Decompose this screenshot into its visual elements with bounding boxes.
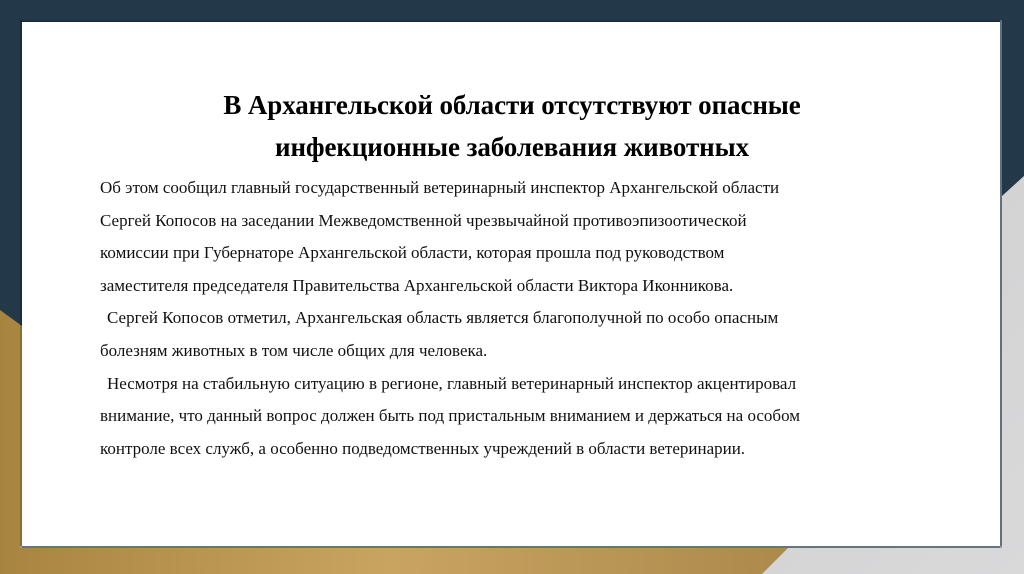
slide-title: В Архангельской области отсутствуют опас… bbox=[82, 84, 942, 168]
frame-bevel-right bbox=[1000, 20, 1002, 548]
slide-body-text: Об этом сообщил главный государственный … bbox=[100, 172, 930, 465]
frame-bevel-bottom bbox=[20, 546, 1002, 548]
body-line-6: болезням животных в том числе общих для … bbox=[100, 335, 930, 368]
body-line-4: заместителя председателя Правительства А… bbox=[100, 270, 930, 303]
body-line-8: внимание, что данный вопрос должен быть … bbox=[100, 400, 930, 433]
body-line-3: комиссии при Губернаторе Архангельской о… bbox=[100, 237, 930, 270]
slide-title-line-1: В Архангельской области отсутствуют опас… bbox=[82, 84, 942, 126]
presentation-slide: В Архангельской области отсутствуют опас… bbox=[0, 0, 1024, 574]
body-line-5: Сергей Копосов отметил, Архангельская об… bbox=[100, 302, 930, 335]
slide-content-area: В Архангельской области отсутствуют опас… bbox=[22, 22, 1000, 546]
body-line-2: Сергей Копосов на заседании Межведомстве… bbox=[100, 205, 930, 238]
slide-title-line-2: инфекционные заболевания животных bbox=[82, 126, 942, 168]
body-line-9: контроле всех служб, а особенно подведом… bbox=[100, 433, 930, 466]
body-line-1: Об этом сообщил главный государственный … bbox=[100, 172, 930, 205]
body-line-7: Несмотря на стабильную ситуацию в регион… bbox=[100, 368, 930, 401]
